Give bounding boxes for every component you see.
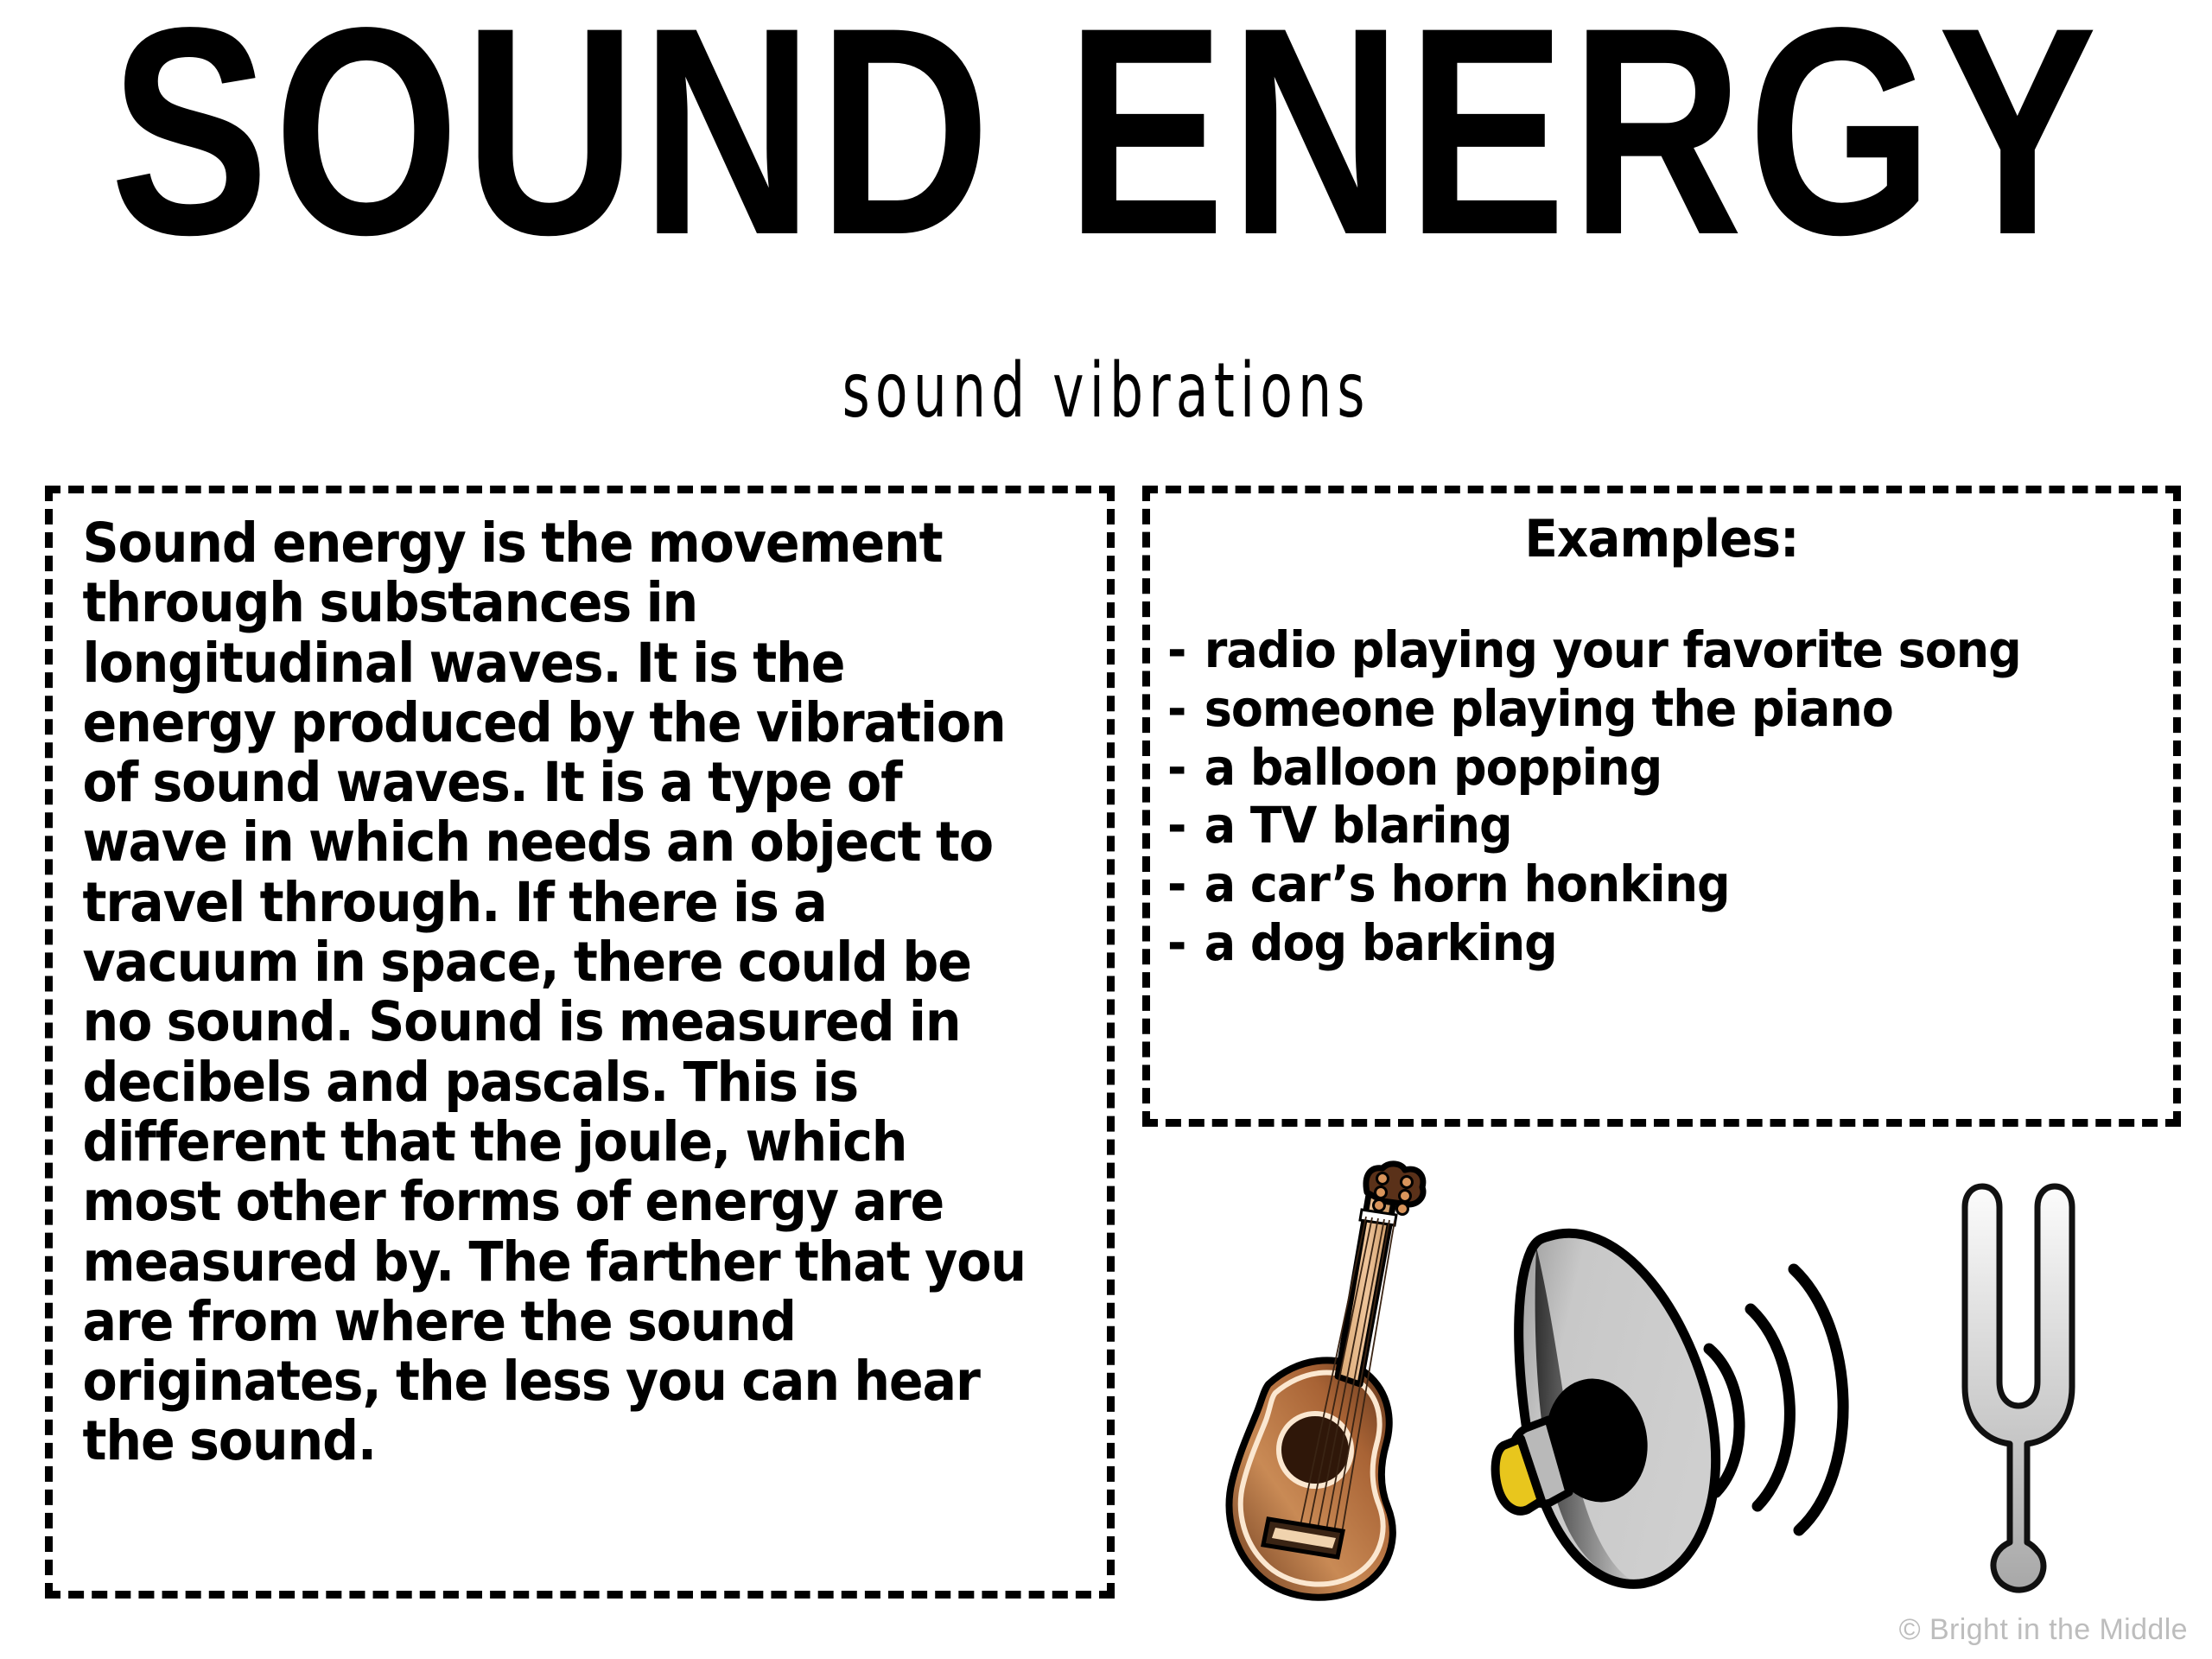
list-item-label: a dog barking <box>1205 913 1557 972</box>
list-item-label: a TV blaring <box>1205 796 1512 855</box>
list-item: -a TV blaring <box>1167 798 2100 854</box>
subtitle-container: sound vibrations <box>0 353 2212 413</box>
list-item-label: a car’s horn honking <box>1205 855 1730 913</box>
examples-list: -radio playing your favorite song-someon… <box>1167 623 2100 975</box>
megaphone-speaker-icon <box>1486 1197 1901 1603</box>
bullet-dash-icon: - <box>1167 916 1185 971</box>
bullet-dash-icon: - <box>1167 682 1185 737</box>
copyright-credit: © Bright in the Middle <box>1899 1613 2188 1647</box>
page-title: SOUND ENERGY <box>110 16 2101 246</box>
bullet-dash-icon: - <box>1167 623 1185 678</box>
list-item: -radio playing your favorite song <box>1167 623 2100 678</box>
page-subtitle: sound vibrations <box>842 353 1370 429</box>
acoustic-guitar-icon <box>1166 1158 1460 1607</box>
bullet-dash-icon: - <box>1167 857 1185 912</box>
examples-heading: Examples: <box>1181 509 2143 569</box>
list-item: -a balloon popping <box>1167 741 2100 796</box>
list-item-label: someone playing the piano <box>1205 679 1893 738</box>
bullet-dash-icon: - <box>1167 741 1185 796</box>
list-item: -a dog barking <box>1167 916 2100 971</box>
list-item: -a car’s horn honking <box>1167 857 2100 912</box>
header: SOUND ENERGY <box>0 16 2212 218</box>
tuning-fork-icon <box>1953 1171 2117 1603</box>
definition-paragraph: Sound energy is the movement through sub… <box>54 494 1046 1471</box>
illustration-row <box>1149 1149 2186 1616</box>
bullet-dash-icon: - <box>1167 798 1185 854</box>
examples-box: Examples: -radio playing your favorite s… <box>1142 486 2181 1127</box>
list-item-label: a balloon popping <box>1205 738 1662 797</box>
definition-box: Sound energy is the movement through sub… <box>45 486 1115 1599</box>
list-item: -someone playing the piano <box>1167 682 2100 737</box>
list-item-label: radio playing your favorite song <box>1205 620 2021 679</box>
